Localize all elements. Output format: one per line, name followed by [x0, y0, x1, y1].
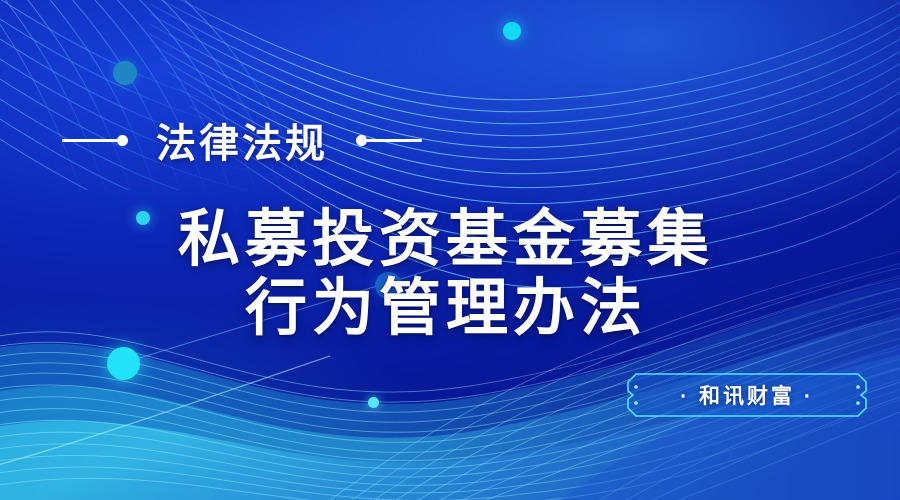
- title-line-2: 行为管理办法: [0, 274, 892, 343]
- page-title: 私募投资基金募集 行为管理办法: [0, 205, 900, 344]
- teal-dot-top-left-icon: [113, 61, 137, 85]
- brand-badge[interactable]: · 和讯财富 ·: [627, 373, 867, 417]
- cyan-dot-top-icon: [503, 22, 521, 40]
- cyan-dot-tiny-icon: [368, 397, 379, 408]
- dash-dot-rule-icon: [62, 135, 128, 146]
- title-line-1: 私募投资基金募集: [0, 205, 892, 274]
- badge-label: · 和讯财富 ·: [627, 373, 867, 417]
- kicker-row: 法律法规: [62, 112, 422, 168]
- banner-canvas: 法律法规 私募投资基金募集 行为管理办法: [0, 0, 900, 500]
- dot-dash-rule-icon: [356, 135, 422, 146]
- cyan-dot-large-left-icon: [107, 347, 140, 380]
- kicker-label: 法律法规: [156, 111, 328, 169]
